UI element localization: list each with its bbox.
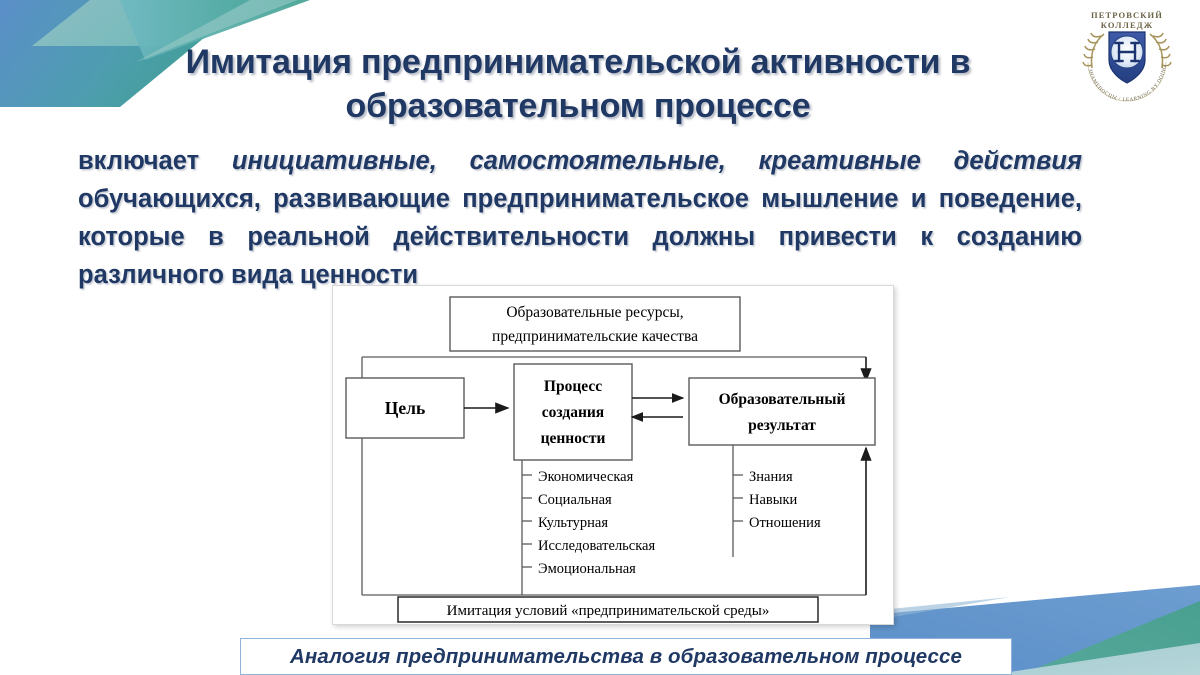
title-line-1: Имитация предпринимательской активности … — [186, 43, 971, 81]
title-line-2: образовательном процессе — [346, 87, 811, 125]
diagram-analogy: Образовательные ресурсы, предприниматель… — [332, 285, 894, 625]
goal-label: Цель — [385, 398, 425, 418]
diagram-box-goal: Цель — [346, 378, 464, 438]
logo-wordmark: ПЕТРОВСКИЙ КОЛЛЕДЖ — [1068, 10, 1186, 30]
value-type-4: Эмоциональная — [538, 561, 636, 577]
body-rest: обучающихся, развивающие предприниматель… — [78, 185, 1082, 289]
diagram-box-resources: Образовательные ресурсы, предприниматель… — [450, 297, 740, 351]
result-type-1: Навыки — [749, 492, 798, 508]
diagram-box-result: Образовательный результат — [689, 378, 875, 445]
result-line-2: результат — [748, 417, 816, 434]
diagram-box-process: Процесс создания ценности — [514, 364, 632, 460]
slide-root: ЗНАМЕНОСЦЫ / LEARNING BY DOING ПЕТРОВСКИ… — [0, 0, 1200, 675]
logo-line-2: КОЛЛЕДЖ — [1101, 20, 1153, 30]
result-type-0: Знания — [749, 469, 793, 485]
value-type-1: Социальная — [538, 492, 612, 508]
result-line-1: Образовательный — [719, 391, 846, 408]
resources-line-1: Образовательные ресурсы, — [506, 304, 683, 321]
value-type-3: Исследовательская — [538, 538, 655, 554]
caption-text: Аналогия предпринимательства в образоват… — [290, 645, 962, 669]
value-type-2: Культурная — [538, 515, 608, 531]
value-type-0: Экономическая — [538, 469, 634, 485]
college-logo: ЗНАМЕНОСЦЫ / LEARNING BY DOING ПЕТРОВСКИ… — [1068, 2, 1186, 106]
caption-bar: Аналогия предпринимательства в образоват… — [240, 638, 1012, 675]
process-line-3: ценности — [541, 430, 606, 447]
diagram-box-environment: Имитация условий «предпринимательской ср… — [398, 597, 818, 622]
environment-label: Имитация условий «предпринимательской ср… — [447, 603, 770, 619]
process-line-2: создания — [542, 404, 604, 421]
page-title: Имитация предпринимательской активности … — [78, 40, 1078, 128]
resources-line-2: предпринимательские качества — [492, 328, 698, 345]
process-line-1: Процесс — [544, 378, 602, 395]
logo-line-1: ПЕТРОВСКИЙ — [1091, 10, 1163, 20]
body-lead: включает — [78, 147, 232, 175]
body-italic-phrase: инициативные, самостоятельные, креативны… — [232, 147, 1082, 175]
body-paragraph: включает инициативные, самостоятельные, … — [78, 142, 1082, 294]
result-type-2: Отношения — [749, 515, 821, 531]
